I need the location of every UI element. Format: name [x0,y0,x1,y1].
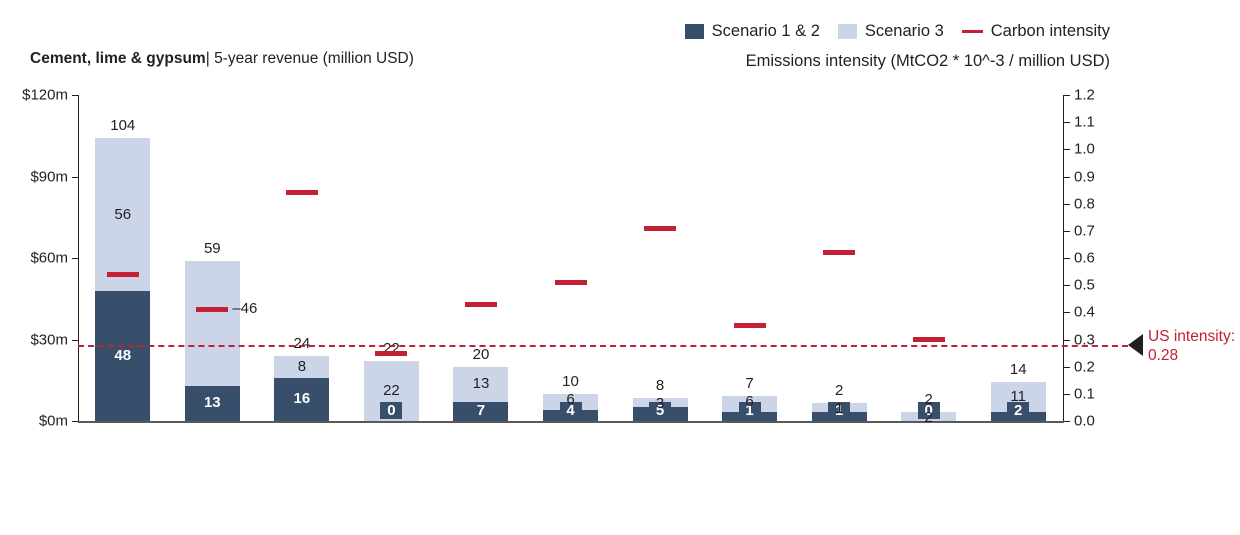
bar-value-scenario-3: 2 [901,410,956,425]
y-tick-right [1064,149,1070,150]
us-intensity-annotation: US intensity: 0.28 [1148,327,1235,366]
carbon-intensity-marker[interactable] [823,250,855,255]
legend-item-1[interactable]: Scenario 1 & 2 [685,22,820,41]
y-axis-right-label: 0.2 [1074,358,1114,375]
bar-group[interactable]: 112 [812,95,867,421]
y-tick-right [1064,204,1070,205]
legend-item-label: Scenario 3 [865,22,944,41]
bar-value-scenario-3: 22 [364,383,419,398]
y-tick-left [72,340,78,341]
bar-group[interactable]: 4856104 [95,95,150,421]
y-tick-right [1064,177,1070,178]
us-intensity-value: 0.28 [1148,346,1235,365]
scenario-3-callout-label: –46 [232,300,257,317]
legend-item-3[interactable]: Carbon intensity [962,22,1110,41]
y-tick-right [1064,340,1070,341]
bar-group[interactable]: 21114 [991,95,1046,421]
legend-swatch-icon [685,24,704,39]
title-bold: Cement, lime & gypsum [30,50,206,67]
bar-value-scenario-3: 8 [274,359,329,374]
bar-value-scenario-3: 3 [633,396,688,411]
us-intensity-arrow-icon [1128,334,1143,356]
legend-item-2[interactable]: Scenario 3 [838,22,944,41]
y-axis-right-label: 0.3 [1074,331,1114,348]
y-axis-right-label: 1.0 [1074,141,1114,158]
bar-value-scenario-3: 6 [722,394,777,409]
carbon-intensity-marker[interactable] [555,280,587,285]
carbon-intensity-marker[interactable] [286,190,318,195]
y-tick-right [1064,258,1070,259]
y-tick-right [1064,394,1070,395]
bar-group[interactable]: 538 [633,95,688,421]
us-intensity-label: US intensity: [1148,327,1235,346]
us-intensity-reference-line [78,345,1128,347]
carbon-intensity-marker[interactable] [465,302,497,307]
bar-group[interactable]: 1359 [185,95,240,421]
y-axis-right-label: 0.4 [1074,304,1114,321]
bar-value-scenario-3: 1 [812,401,867,416]
y-tick-right [1064,285,1070,286]
bar-value-scenario-3: 13 [453,376,508,391]
y-axis-left-label: $30m [6,331,68,348]
carbon-intensity-marker[interactable] [644,226,676,231]
carbon-intensity-marker[interactable] [734,323,766,328]
y-axis-right-label: 0.8 [1074,195,1114,212]
bar-value-scenario-3: 56 [95,207,150,222]
y-axis-right-label: 0.7 [1074,222,1114,239]
y-axis-left-label: $90m [6,168,68,185]
bar-total-label: 104 [95,118,150,133]
legend-swatch-icon [838,24,857,39]
page-title: Cement, lime & gypsum| 5-year revenue (m… [30,50,414,68]
chart-legend: Scenario 1 & 2Scenario 3Carbon intensity [640,22,1110,41]
title-rest: 5-year revenue (million USD) [214,50,414,67]
bar-value-scenario-1-2: 16 [274,391,329,406]
bar-value-scenario-1-2: 13 [185,395,240,410]
y-axis-left-label: $60m [6,250,68,267]
carbon-intensity-marker[interactable] [375,351,407,356]
y-axis-right-label: 0.1 [1074,385,1114,402]
y-tick-right [1064,421,1070,422]
y-tick-right [1064,95,1070,96]
bar-total-label: 24 [274,336,329,351]
bar-group[interactable]: 4610 [543,95,598,421]
y-axis-left-label: $0m [6,413,68,430]
legend-item-label: Scenario 1 & 2 [712,22,820,41]
bar-group[interactable]: 022 [901,95,956,421]
y-tick-right [1064,312,1070,313]
plot-area: 48561041359–4616824022227132046105381671… [78,95,1063,421]
bar-total-label: 10 [543,374,598,389]
legend-line-icon [962,30,983,33]
bar-value-scenario-3: 11 [991,389,1046,404]
y-axis-left-label: $120m [6,87,68,104]
bar-group[interactable]: 167 [722,95,777,421]
legend-item-label: Carbon intensity [991,22,1110,41]
bar-group[interactable]: 71320 [453,95,508,421]
y-axis-right-label: 0.5 [1074,277,1114,294]
chart-root: Scenario 1 & 2Scenario 3Carbon intensity… [0,0,1240,535]
bar-total-label: 2 [812,383,867,398]
y-tick-left [72,421,78,422]
bar-total-label: 8 [633,378,688,393]
carbon-intensity-marker[interactable] [196,307,228,312]
bar-group[interactable]: 02222 [364,95,419,421]
bar-total-label: 7 [722,376,777,391]
legend-subtitle: Emissions intensity (MtCO2 * 10^-3 / mil… [600,52,1110,71]
y-tick-left [72,177,78,178]
bar-group[interactable]: 16824 [274,95,329,421]
y-tick-left [72,258,78,259]
carbon-intensity-marker[interactable] [107,272,139,277]
y-axis-right-label: 0.0 [1074,413,1114,430]
bar-value-scenario-1-2: 0 [380,402,402,419]
bar-total-label: 20 [453,347,508,362]
bar-total-label: 2 [901,392,956,407]
y-tick-left [72,95,78,96]
bar-value-scenario-1-2: 7 [470,402,492,419]
bar-value-scenario-3: 6 [543,392,598,407]
y-axis-right-label: 1.2 [1074,87,1114,104]
bar-total-label: 59 [185,241,240,256]
bar-segment-scenario-3[interactable] [185,261,240,386]
y-axis-right-label: 0.9 [1074,168,1114,185]
carbon-intensity-marker[interactable] [913,337,945,342]
y-tick-right [1064,231,1070,232]
y-axis-right-label: 1.1 [1074,114,1114,131]
y-tick-right [1064,367,1070,368]
title-separator: | [206,50,210,67]
y-axis-right-label: 0.6 [1074,250,1114,267]
bar-value-scenario-1-2: 48 [95,348,150,363]
bar-total-label: 14 [991,362,1046,377]
y-tick-right [1064,122,1070,123]
